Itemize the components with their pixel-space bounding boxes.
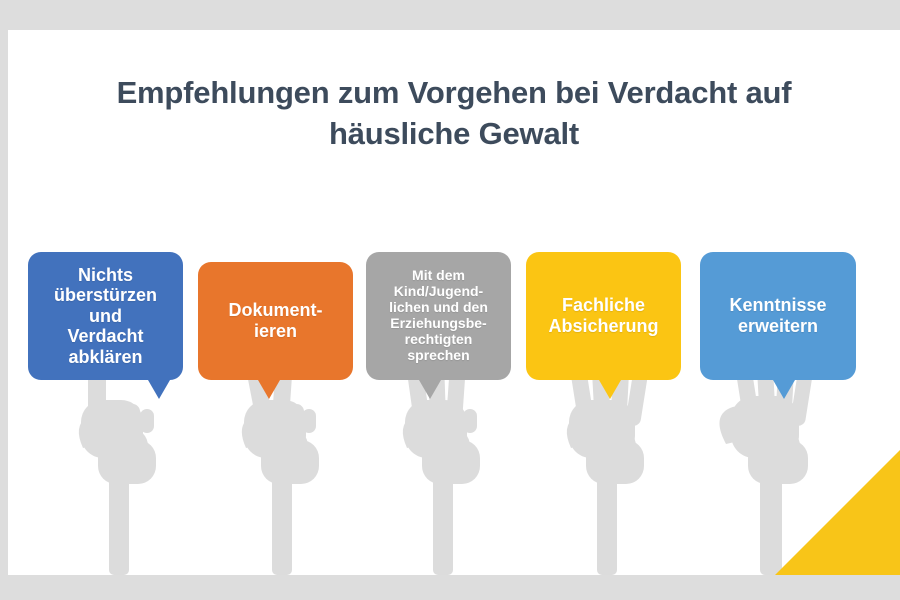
step-bubble-1-text: Nichts überstürzen und Verdacht abklären (34, 265, 177, 368)
slide-bottom-band (0, 575, 900, 600)
step-bubble-5-text: Kenntnisse erweitern (706, 295, 850, 336)
step-bubble-2[interactable]: Dokument- ieren (198, 262, 353, 380)
step-bubble-5-tail (773, 380, 795, 399)
step-bubble-4-text: Fachliche Absicherung (532, 295, 675, 336)
step-bubble-4-tail (599, 380, 621, 399)
step-bubble-4[interactable]: Fachliche Absicherung (526, 252, 681, 380)
step-bubble-1[interactable]: Nichts überstürzen und Verdacht abklären (28, 252, 183, 380)
step-bubble-3[interactable]: Mit dem Kind/Jugend- lichen und den Erzi… (366, 252, 511, 380)
step-bubble-2-text: Dokument- ieren (204, 300, 347, 341)
step-bubble-2-tail (258, 380, 280, 399)
slide-content-area: Empfehlungen zum Vorgehen bei Verdacht a… (8, 30, 900, 575)
accent-corner-triangle (775, 450, 900, 575)
recommendation-steps-row: Nichts überstürzen und Verdacht abklären… (28, 252, 888, 402)
step-bubble-1-tail (148, 380, 170, 399)
step-bubble-5[interactable]: Kenntnisse erweitern (700, 252, 856, 380)
step-bubble-3-text: Mit dem Kind/Jugend- lichen und den Erzi… (372, 268, 505, 364)
step-bubble-3-tail (419, 380, 441, 399)
slide-canvas: Empfehlungen zum Vorgehen bei Verdacht a… (0, 0, 900, 600)
